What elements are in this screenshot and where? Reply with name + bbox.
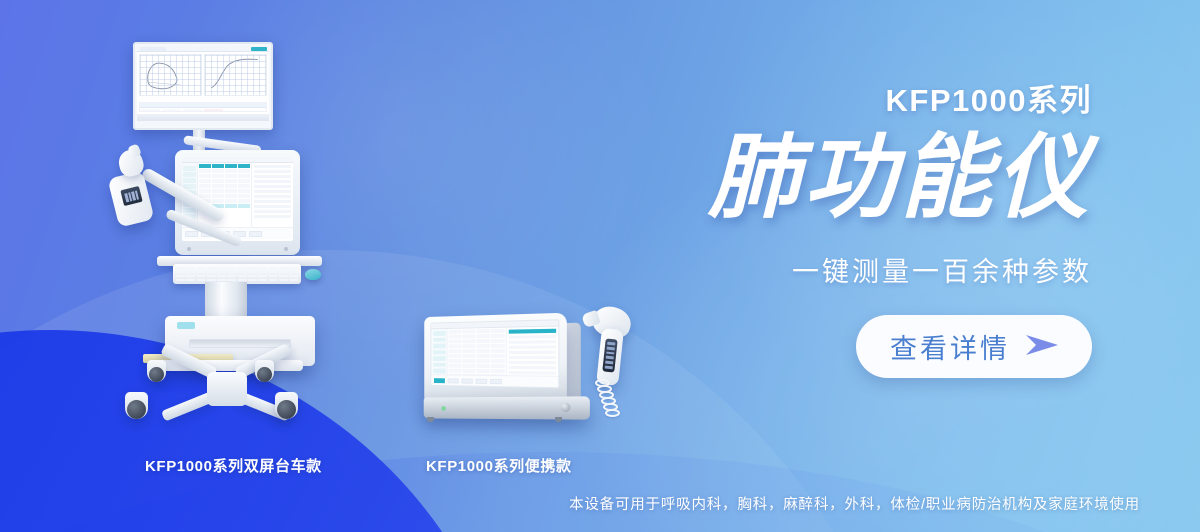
portable-screen-display [430, 319, 559, 388]
banner-copy: KFP1000系列 肺功能仪 一键测量一百余种参数 查看详情 [572, 84, 1092, 378]
handheld-spirometer [107, 148, 153, 224]
portable-data-table [448, 328, 507, 375]
port-connector [561, 403, 571, 412]
monitor-charts [137, 52, 269, 98]
table-row [140, 108, 266, 112]
view-details-label: 查看详情 [890, 327, 1010, 366]
monitor-bezel-bottom [137, 114, 269, 121]
monitor-results-table [139, 102, 267, 112]
bezel-indicator [284, 247, 288, 251]
caption-portable: KFP1000系列便携款 [426, 455, 572, 476]
panel-header [509, 329, 556, 334]
portable-sidebar [431, 329, 447, 375]
portable-detail-panel [507, 327, 559, 376]
printer-badge [177, 322, 195, 329]
keyboard [173, 264, 301, 284]
mouse [305, 269, 321, 280]
flow-volume-loop-chart [139, 54, 202, 96]
page-title: 肺功能仪 [572, 130, 1092, 228]
cta-row: 查看详情 [572, 315, 1092, 378]
touch-detail-panel [251, 163, 293, 227]
monitor-toolbar [137, 46, 269, 52]
footnote-text: 本设备可用于呼吸内科，胸科，麻醉科，外科，体检/职业病防治机构及家庭环境使用 [569, 493, 1140, 514]
power-led-icon [441, 406, 445, 411]
chart-grid [205, 55, 266, 95]
portable-base [424, 396, 590, 419]
arrow-right-icon [1024, 332, 1064, 361]
touch-body [182, 163, 293, 227]
portable-foot [427, 417, 434, 422]
monitor-screen [137, 46, 269, 121]
cart-base-hub [207, 372, 247, 406]
cart-caster [275, 392, 298, 419]
banner-subtitle: 一键测量一百余种参数 [572, 250, 1092, 289]
product-image-cart [95, 42, 325, 442]
portable-screen [424, 313, 567, 406]
cart-caster [125, 392, 148, 419]
brand-series-label: KFP1000系列 [572, 84, 1092, 118]
coiled-cable [591, 379, 631, 423]
caption-cart: KFP1000系列双屏台车款 [145, 455, 322, 476]
touch-data-grid [198, 163, 251, 227]
top-monitor [133, 42, 273, 130]
volume-time-chart [204, 54, 267, 96]
chart-grid [140, 55, 201, 95]
bezel-indicator [187, 247, 191, 251]
portable-main-area [431, 327, 558, 376]
printer-paper-slot [189, 339, 291, 348]
cart-caster [255, 360, 274, 382]
cart-caster [147, 360, 166, 382]
product-banner: KFP1000系列双屏台车款 KFP1000系列便携款 KFP1000系列 肺功… [0, 0, 1200, 532]
portable-foot [555, 417, 562, 422]
cart-column [205, 282, 247, 318]
portable-action-bar [431, 374, 558, 387]
cart-base-shelf [151, 360, 303, 371]
view-details-button[interactable]: 查看详情 [856, 315, 1092, 378]
